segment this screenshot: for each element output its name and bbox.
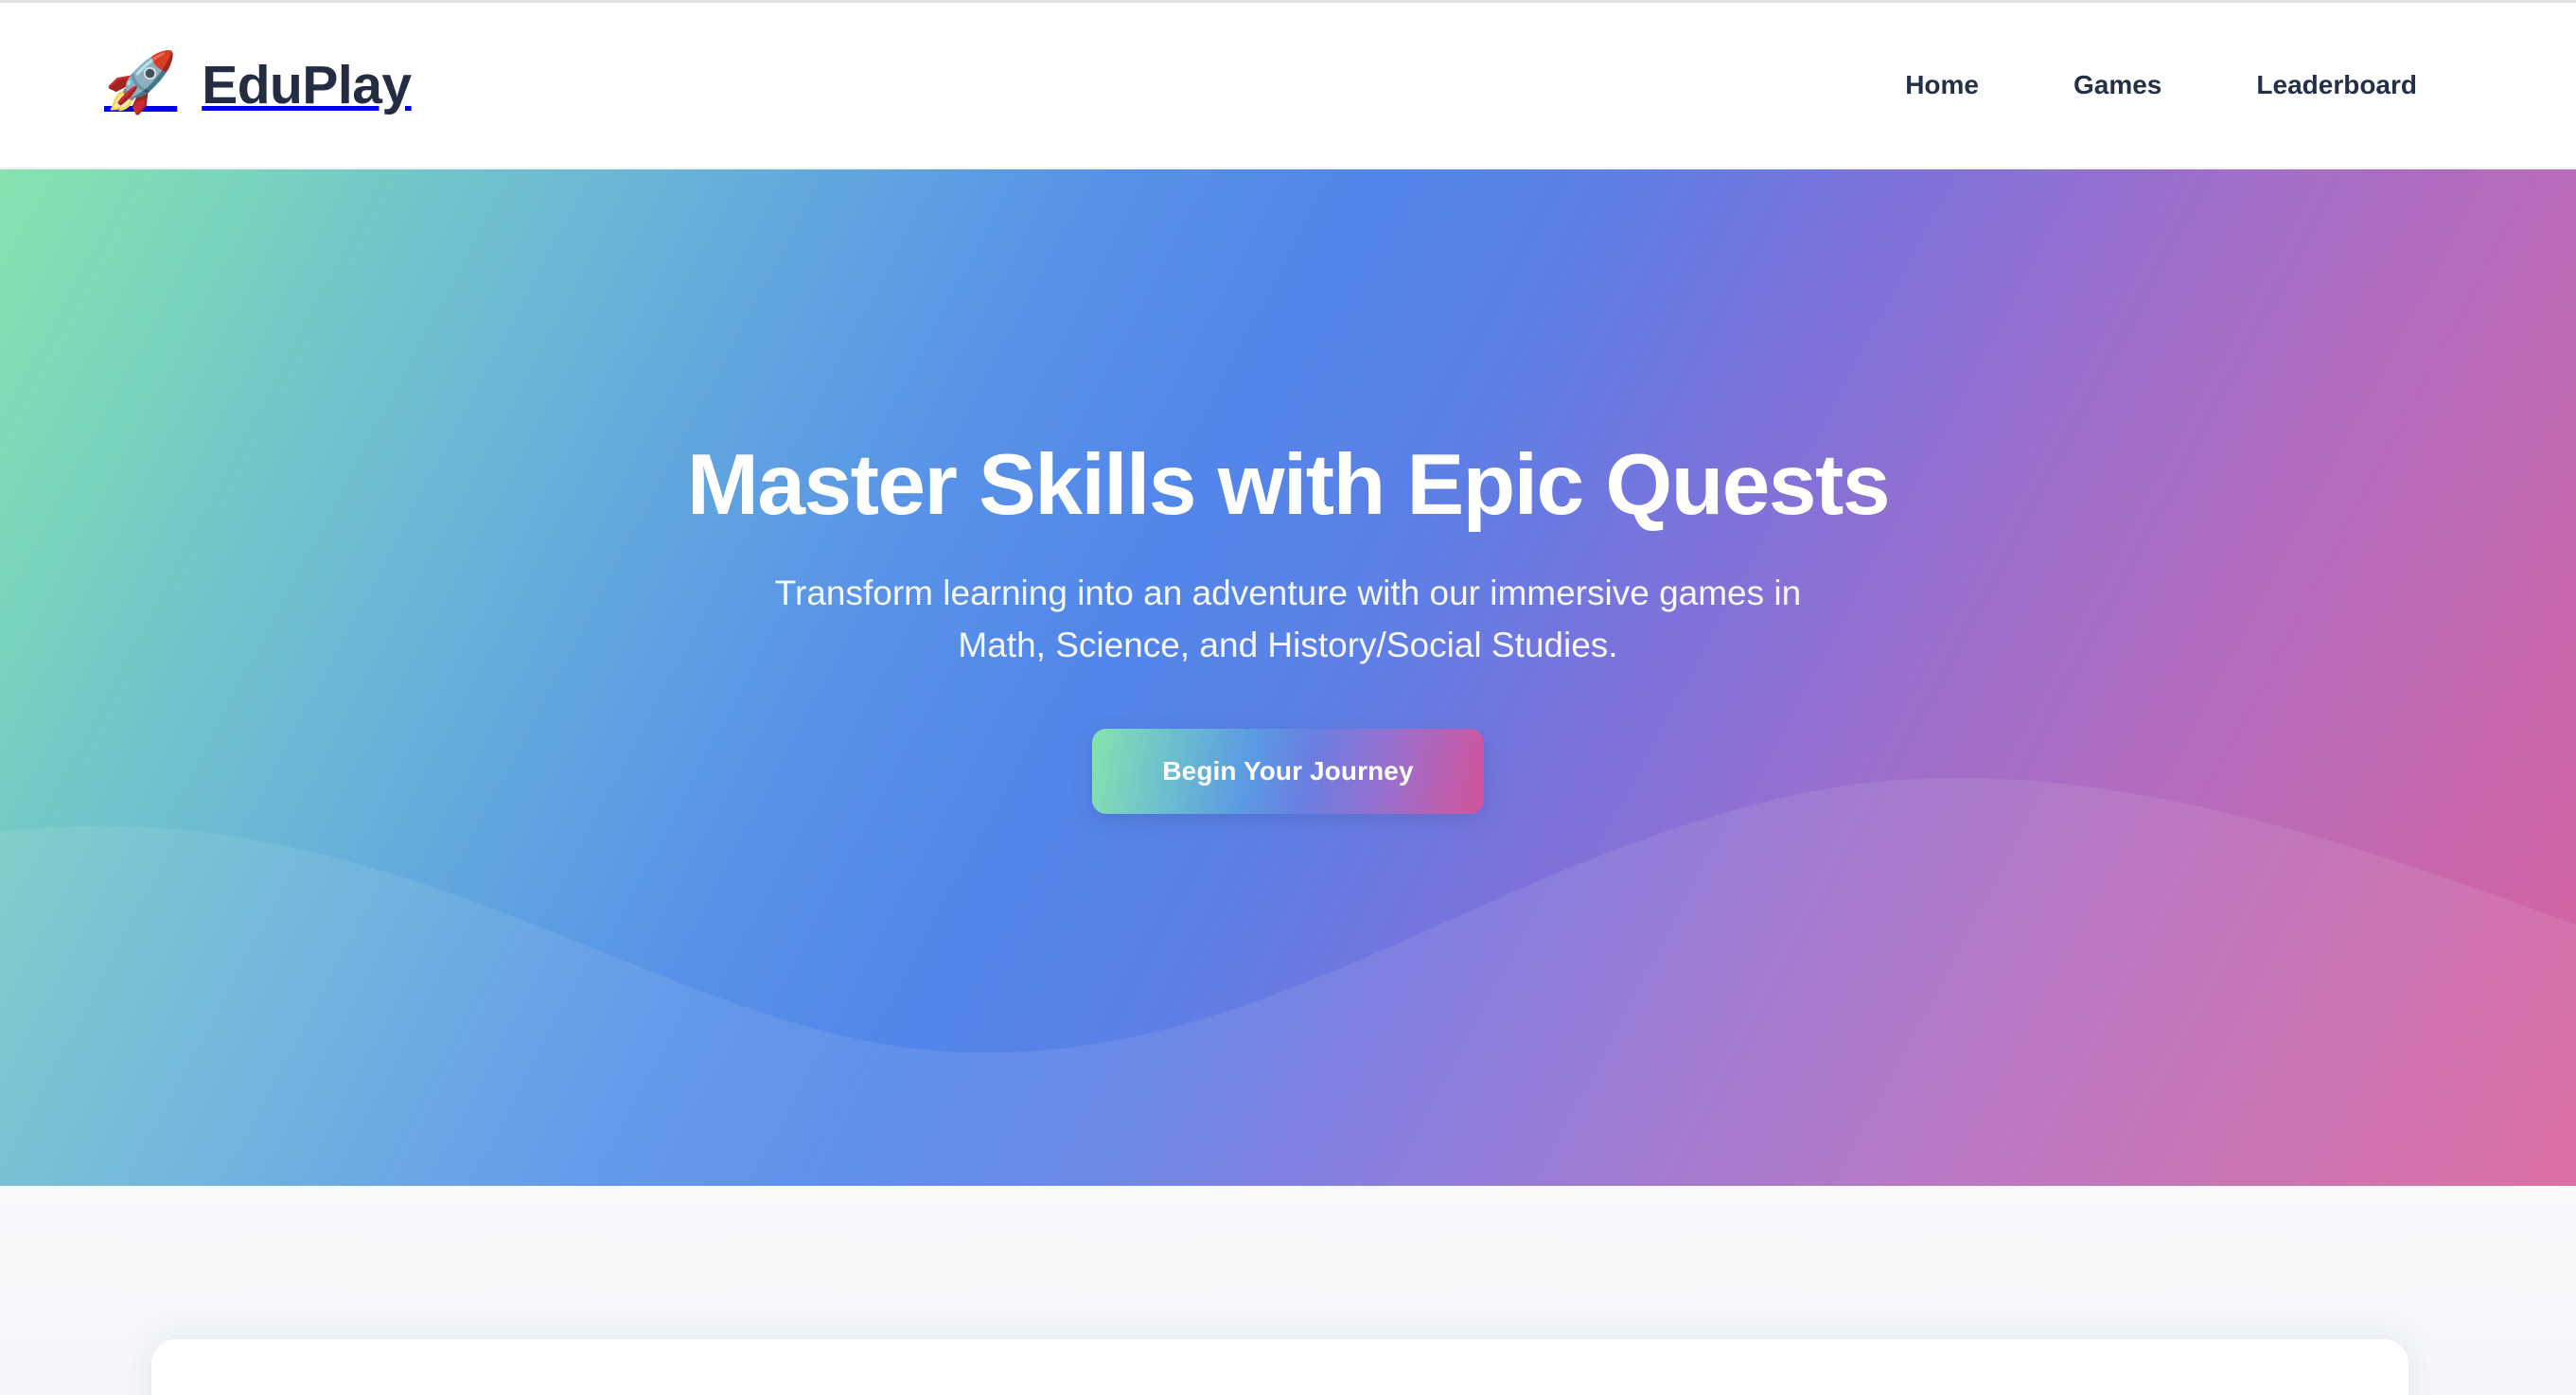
hero-content: Master Skills with Epic Quests Transform… <box>0 169 2576 1186</box>
nav-link-leaderboard[interactable]: Leaderboard <box>2256 72 2417 98</box>
hero-title: Master Skills with Epic Quests <box>687 439 1889 532</box>
hero-section: Master Skills with Epic Quests Transform… <box>0 169 2576 1186</box>
hero-subtitle: Transform learning into an adventure wit… <box>775 568 1801 671</box>
nav-link-home[interactable]: Home <box>1905 72 1979 98</box>
main-navigation: Home Games Leaderboard <box>1905 72 2474 98</box>
hero-subtitle-line-2: Math, Science, and History/Social Studie… <box>958 626 1617 664</box>
brand-name: EduPlay <box>202 59 411 113</box>
page-root: 🚀 EduPlay Home Games Leaderboard Master … <box>0 0 2576 1395</box>
begin-journey-button[interactable]: Begin Your Journey <box>1092 729 1484 814</box>
content-card <box>151 1339 2408 1395</box>
nav-link-games[interactable]: Games <box>2073 72 2161 98</box>
rocket-icon: 🚀 <box>104 54 177 113</box>
site-header: 🚀 EduPlay Home Games Leaderboard <box>0 3 2576 168</box>
brand-logo-link[interactable]: 🚀 EduPlay <box>104 56 412 115</box>
hero-subtitle-line-1: Transform learning into an adventure wit… <box>775 574 1801 612</box>
